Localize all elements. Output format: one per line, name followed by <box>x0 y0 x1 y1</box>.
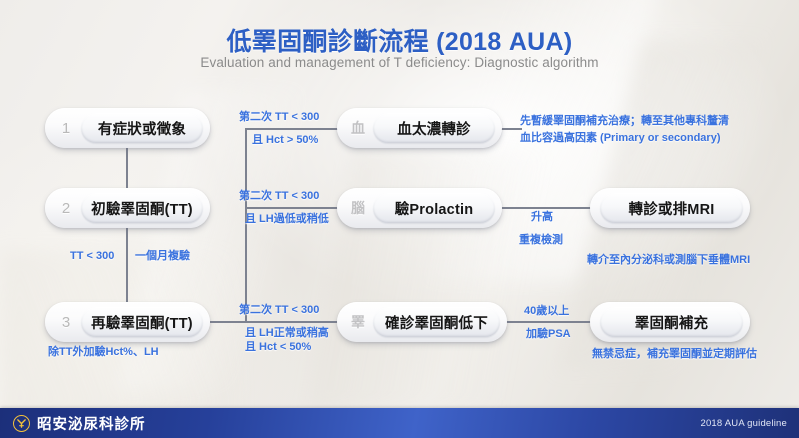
diagram-canvas: 低睪固酮診斷流程 (2018 AUA) Evaluation and manag… <box>0 0 799 438</box>
connector-branch-2 <box>245 207 340 209</box>
connector-mid3-out <box>500 321 592 323</box>
branch-3-condition-below-a: 且 LH正常或稍高 <box>245 326 329 341</box>
step-box-2[interactable]: 2 初驗睪固酮(TT) <box>45 188 210 228</box>
step3-note: 除TT外加驗Hct%、LH <box>48 345 159 360</box>
clinic-name: 昭安泌尿科診所 <box>37 413 146 434</box>
testis-icon: 睪 <box>343 312 373 332</box>
link-label-3-below: 加驗PSA <box>526 327 571 342</box>
outcome-label-mri: 轉診或排MRI <box>629 198 715 219</box>
node-inner-3: 確診睪固酮低下 <box>373 307 500 337</box>
step-inner-1: 有症狀或徵象 <box>81 113 203 143</box>
step-inner-2: 初驗睪固酮(TT) <box>81 193 203 223</box>
brain-icon: 腦 <box>343 198 373 218</box>
trunk-condition-label: TT < 300 <box>70 249 114 264</box>
node-inner-2: 驗Prolactin <box>373 193 495 223</box>
step-box-1[interactable]: 1 有症狀或徵象 <box>45 108 210 148</box>
footer-bar: 昭安泌尿科診所 2018 AUA guideline <box>0 408 799 438</box>
branch-1-condition-above: 第二次 TT < 300 <box>239 110 319 125</box>
branch-1-condition-below: 且 Hct > 50% <box>252 133 318 148</box>
link-label-2-below: 重複檢測 <box>519 233 563 248</box>
step-label-3: 再驗睪固酮(TT) <box>91 312 193 333</box>
node-box-prolactin[interactable]: 腦 驗Prolactin <box>337 188 502 228</box>
clinic-logo-icon <box>13 415 30 432</box>
branch-3-condition-below-b: 且 Hct < 50% <box>245 340 311 355</box>
clinic-brand: 昭安泌尿科診所 <box>13 413 146 434</box>
connector-branch-1 <box>245 128 340 130</box>
connector-branch-3 <box>245 321 340 323</box>
link-label-2-above: 升高 <box>531 210 553 225</box>
step-inner-3: 再驗睪固酮(TT) <box>81 307 203 337</box>
step-badge-2: 2 <box>51 200 81 217</box>
outcome-note-mri: 轉介至內分泌科或測腦下垂體MRI <box>587 253 750 268</box>
connector-mid2-out <box>500 207 592 209</box>
step-badge-1: 1 <box>51 120 81 137</box>
step-badge-3: 3 <box>51 314 81 331</box>
outcome-inner-trt: 睪固酮補充 <box>600 307 743 337</box>
page-title: 低睪固酮診斷流程 (2018 AUA) <box>0 22 799 58</box>
outcome-inner-mri: 轉診或排MRI <box>600 193 743 223</box>
link-label-3-above: 40歲以上 <box>524 304 569 319</box>
branch-3-condition-above: 第二次 TT < 300 <box>239 303 319 318</box>
outcome-box-mri[interactable]: 轉診或排MRI <box>590 188 750 228</box>
node-label-blood-referral: 血太濃轉診 <box>397 118 471 139</box>
node-box-diagnosis[interactable]: 睪 確診睪固酮低下 <box>337 302 507 342</box>
outcome-text-1-line1: 先暫緩睪固酮補充治療；轉至其他專科釐清 <box>520 114 729 129</box>
node-label-prolactin: 驗Prolactin <box>395 198 474 219</box>
outcome-box-trt[interactable]: 睪固酮補充 <box>590 302 750 342</box>
outcome-text-1-line2: 血比容過高因素 (Primary or secondary) <box>520 131 721 146</box>
step-box-3[interactable]: 3 再驗睪固酮(TT) <box>45 302 210 342</box>
step-label-1: 有症狀或徵象 <box>98 118 186 139</box>
source-credit: 2018 AUA guideline <box>700 418 787 429</box>
branch-2-condition-below: 且 LH過低或稍低 <box>245 212 329 227</box>
node-label-diagnosis: 確診睪固酮低下 <box>385 312 488 333</box>
branch-2-condition-above: 第二次 TT < 300 <box>239 189 319 204</box>
node-box-blood-referral[interactable]: 血 血太濃轉診 <box>337 108 502 148</box>
outcome-note-trt: 無禁忌症，補充睪固酮並定期評估 <box>592 347 757 362</box>
trunk-action-label: 一個月複驗 <box>135 249 190 264</box>
blood-icon: 血 <box>343 118 373 138</box>
connector-step1-step2 <box>126 148 128 188</box>
page-subtitle: Evaluation and management of T deficienc… <box>0 55 799 70</box>
connector-mid1-out <box>500 128 522 130</box>
connector-step3-out <box>210 321 246 323</box>
node-inner-1: 血太濃轉診 <box>373 113 495 143</box>
outcome-label-trt: 睪固酮補充 <box>635 312 709 333</box>
connector-step2-step3 <box>126 228 128 302</box>
step-label-2: 初驗睪固酮(TT) <box>91 198 193 219</box>
